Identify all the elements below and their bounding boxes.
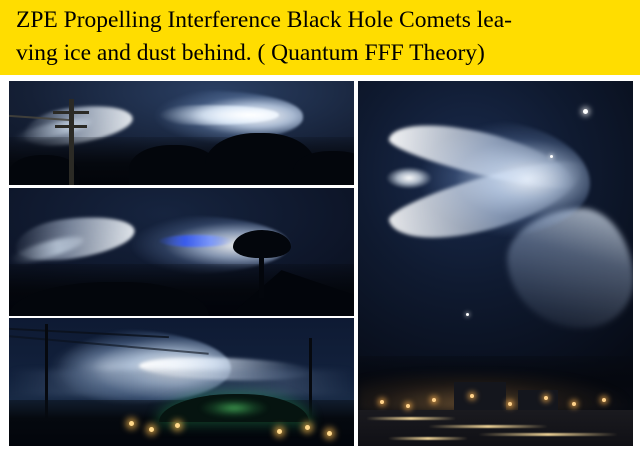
city-light (602, 398, 606, 402)
palm-tree-crown (233, 230, 291, 258)
city-light (380, 400, 384, 404)
city-light (406, 404, 410, 408)
star (550, 155, 553, 158)
page-title-line-2: ving ice and dust behind. ( Quantum FFF … (16, 37, 634, 70)
road (358, 410, 633, 446)
slide-page: ZPE Propelling Interference Black Hole C… (0, 0, 640, 452)
building-silhouette (518, 390, 558, 412)
city-light (572, 402, 576, 406)
city-light (544, 396, 548, 400)
street-light (175, 423, 180, 428)
photo-top-left (9, 81, 354, 185)
street-light (129, 421, 134, 426)
star (466, 313, 469, 316)
city-light (432, 398, 436, 402)
street-light (149, 427, 154, 432)
utility-pole-crossarm (55, 125, 87, 128)
traffic-light-streak (388, 437, 468, 440)
plume-core (129, 105, 279, 125)
street-light (277, 429, 282, 434)
plume-core (386, 167, 432, 189)
blue-plume-core (159, 235, 233, 247)
traffic-light-streak (428, 425, 548, 428)
cloud-band (9, 370, 354, 396)
city-light (470, 394, 474, 398)
green-light-glow (199, 398, 269, 418)
page-title-line-1: ZPE Propelling Interference Black Hole C… (16, 4, 634, 37)
star (583, 109, 588, 114)
title-banner: ZPE Propelling Interference Black Hole C… (0, 0, 640, 75)
utility-pole-crossarm (53, 111, 89, 114)
street-light (327, 431, 332, 436)
traffic-light-streak (478, 433, 618, 436)
photo-right (358, 81, 633, 446)
photo-mid-left (9, 188, 354, 316)
photo-grid (0, 75, 640, 452)
street-light (305, 425, 310, 430)
city-light (508, 402, 512, 406)
traffic-light-streak (366, 417, 456, 420)
building-silhouette (454, 382, 506, 412)
photo-bottom-left (9, 318, 354, 446)
